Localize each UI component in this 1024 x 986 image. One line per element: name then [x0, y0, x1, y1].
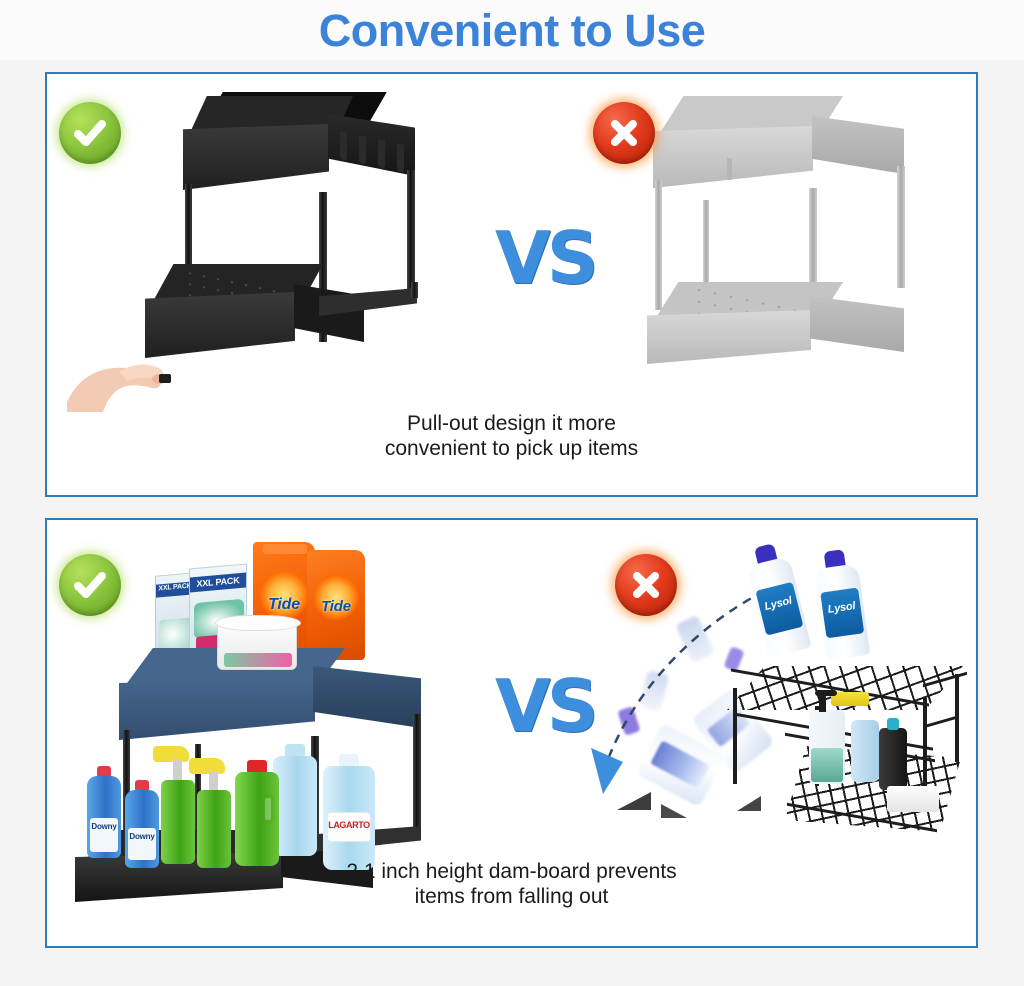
- check-badge: [59, 554, 121, 616]
- page-title: Convenient to Use: [319, 8, 706, 53]
- check-icon: [70, 565, 110, 605]
- comparison-panel-1: VS: [45, 72, 978, 497]
- panel-1-caption: Pull-out design it more convenient to pi…: [47, 412, 976, 462]
- blue-rack-loaded: XXL PACK XXL PACK Tide Tide: [67, 530, 467, 900]
- spray-bottle: [197, 758, 231, 868]
- downy-bottle: Downy: [87, 766, 121, 858]
- gray-fixed-shelf: [617, 96, 937, 386]
- hand-graphic: [67, 332, 207, 412]
- tide-bag-label: Tide: [307, 598, 365, 615]
- comparison-panel-2: XXL PACK XXL PACK Tide Tide: [45, 518, 978, 948]
- check-icon: [70, 113, 110, 153]
- check-badge: [59, 102, 121, 164]
- jug-label: LAGARTO: [323, 820, 375, 830]
- panel-2-caption-line-2: items from falling out: [47, 885, 976, 910]
- blue-container: [851, 720, 879, 782]
- bottle-label: Downy: [125, 832, 159, 841]
- cross-badge: [615, 554, 677, 616]
- green-jug: [235, 760, 279, 866]
- panel-2-caption-line-1: 2.1 inch height dam-board prevents: [47, 860, 976, 885]
- cross-badge: [593, 102, 655, 164]
- soap-dispenser: [809, 710, 845, 784]
- tide-bag-label: Tide: [253, 596, 315, 614]
- panel-2-caption: 2.1 inch height dam-board prevents items…: [47, 860, 976, 910]
- bottle-label: Downy: [87, 822, 121, 831]
- cross-icon: [626, 565, 666, 605]
- panel-1-caption-line-2: convenient to pick up items: [47, 437, 976, 462]
- title-bar: Convenient to Use: [0, 0, 1024, 60]
- cross-icon: [604, 113, 644, 153]
- soap-bar: [887, 786, 939, 812]
- downy-bottle: Downy: [125, 780, 159, 868]
- tide-bag: Tide: [307, 550, 365, 660]
- vs-label-2: VS: [495, 664, 595, 748]
- vs-label-1: VS: [495, 216, 595, 300]
- lagarto-jug: LAGARTO: [323, 754, 375, 870]
- panel-1-caption-line-1: Pull-out design it more: [47, 412, 976, 437]
- blue-jug: [273, 744, 317, 856]
- infographic-page: Convenient to Use: [0, 0, 1024, 986]
- detergent-tub: [217, 620, 297, 670]
- black-bottle: [879, 728, 907, 790]
